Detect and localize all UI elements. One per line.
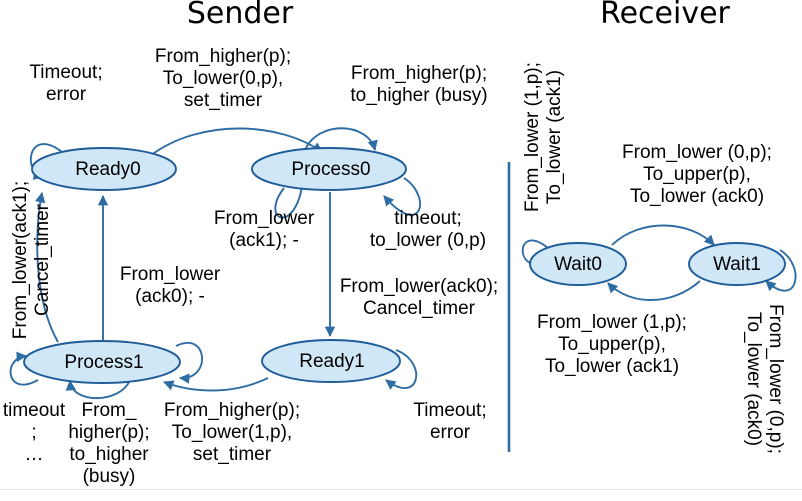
edge-label-wait0-to-wait1: From_lower (0,p);To_upper(p),To_lower (a… bbox=[607, 142, 787, 208]
edge-label-process0-self-left: From_lower(ack1); - bbox=[196, 208, 332, 252]
edge-label-ready1-to-process1: From_higher(p);To_lower(1,p),set_timer bbox=[152, 400, 312, 466]
state-label-process1: Process1 bbox=[64, 352, 143, 373]
edge-label-process1-to-ready0: From_lower(ack0); - bbox=[104, 264, 236, 308]
edge-ready1-to-process1 bbox=[164, 378, 268, 391]
edge-label-ready0-self: Timeout;error bbox=[6, 62, 126, 106]
edge-label-process1-to-ready0-rot: From_lower(ack1);Cancel_timer bbox=[10, 180, 54, 340]
edge-label-wait0-self-rot: From_lower (1,p);To_lower (ack1) bbox=[522, 42, 566, 232]
edge-label-process0-to-ready1: From_lower(ack0);Cancel_timer bbox=[332, 276, 506, 320]
edge-label-process1-self-left: timeout;… bbox=[0, 400, 70, 466]
slide-bottom-rule bbox=[0, 489, 802, 490]
edge-label-process1-self-mid: From_higher(p);to_higher(busy) bbox=[62, 400, 156, 488]
edge-label-wait1-self-rot: From_lower (0,p);To_lower (ack0) bbox=[742, 288, 786, 470]
edge-label-wait1-to-wait0: From_lower (1,p);To_upper(p),To_lower (a… bbox=[520, 312, 704, 378]
state-label-wait0: Wait0 bbox=[554, 254, 602, 275]
state-label-process0: Process0 bbox=[291, 159, 370, 180]
edge-label-ready1-self: Timeout;error bbox=[400, 400, 500, 444]
state-label-ready0: Ready0 bbox=[75, 159, 141, 180]
edge-wait1-to-wait0 bbox=[608, 281, 700, 300]
slide-canvas: Sender Receiver bbox=[0, 0, 802, 501]
edge-label-ready0-to-process0: From_higher(p);To_lower(0,p),set_timer bbox=[135, 46, 311, 112]
state-label-wait1: Wait1 bbox=[713, 254, 761, 275]
edge-label-process0-self-top: From_higher(p);to_higher (busy) bbox=[330, 63, 508, 107]
state-label-ready1: Ready1 bbox=[299, 351, 365, 372]
edge-label-process0-self-right: timeout;to_lower (0,p) bbox=[355, 208, 501, 252]
edge-wait0-to-wait1 bbox=[612, 225, 714, 245]
